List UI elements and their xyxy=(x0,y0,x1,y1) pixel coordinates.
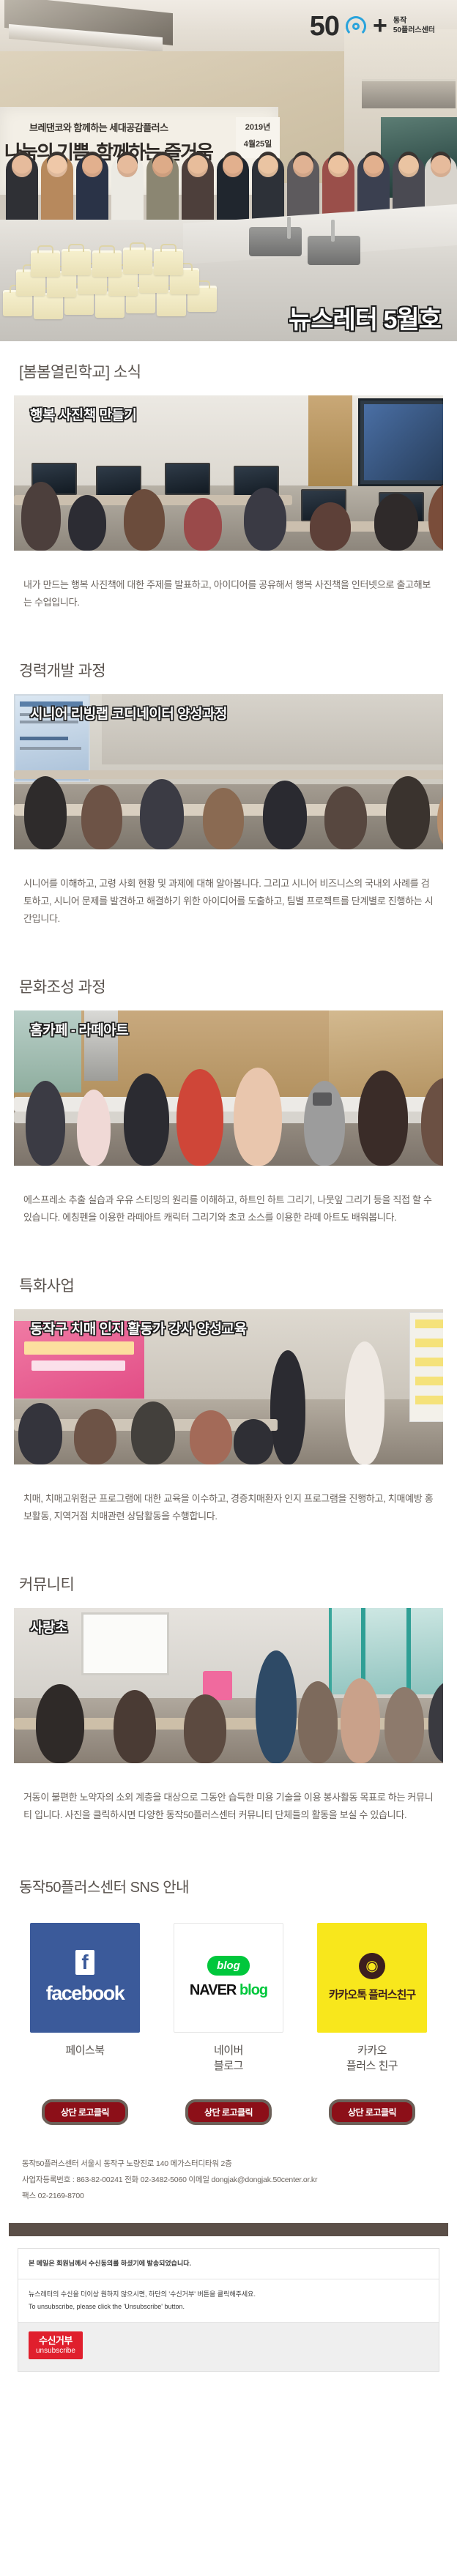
unsubscribe-button-en: unsubscribe xyxy=(36,2347,75,2356)
section-banner-label-culture: 홈카페 - 라떼아트 xyxy=(30,1019,128,1039)
sns-item-kakao[interactable]: ◉ 카카오톡 플러스친구 카카오 플러스 친구 xyxy=(311,1923,434,2075)
backdrop-subtitle: 브레댄코와 함께하는 세대공감플러스 xyxy=(29,120,168,134)
sns-caption-kakao-line1: 카카오 xyxy=(311,2043,434,2059)
section-body-bombom: 내가 만드는 행복 사진책에 대한 주제를 발표하고, 아이디어를 공유해서 행… xyxy=(0,560,457,630)
sns-tile-row: f facebook 페이스북 blog NAVER blog 네이버 블로그 … xyxy=(0,1916,457,2075)
logo-plus: + xyxy=(373,12,387,40)
section-body-career: 시니어를 이해하고, 고령 사회 현황 및 과제에 대해 알아봅니다. 그리고 … xyxy=(0,859,457,947)
logo-click-button-facebook[interactable]: 상단 로고클릭 xyxy=(42,2099,128,2125)
sns-caption-naver-line2: 블로그 xyxy=(167,2058,290,2074)
section-body-culture: 에스프레소 추출 실습과 우유 스티밍의 원리를 이해하고, 하트인 하트 그리… xyxy=(0,1175,457,1246)
naver-blog-logo-tile[interactable]: blog NAVER blog xyxy=(174,1923,283,2033)
facebook-wordmark: facebook xyxy=(46,1982,125,2005)
unsubscribe-box: 본 메일은 회원님께서 수신동의를 하셨기에 발송되었습니다. 뉴스레터의 수신… xyxy=(18,2248,439,2372)
center-logo: 50 + 동작 50플러스센터 xyxy=(310,12,435,40)
section-heading-community: 커뮤니티 xyxy=(0,1554,457,1608)
sns-caption-naver-line1: 네이버 xyxy=(167,2043,290,2059)
logo-ring-icon xyxy=(346,16,366,37)
sns-caption-kakao-line2: 플러스 친구 xyxy=(311,2058,434,2074)
section-banner-label-community: 사랑초 xyxy=(30,1617,67,1637)
logo-dot-icon xyxy=(352,23,360,30)
logo-org-line2: 50플러스센터 xyxy=(393,26,435,36)
section-body-community: 거동이 불편한 노약자의 소외 계층을 대상으로 그동안 습득한 미용 기술을 … xyxy=(0,1773,457,1843)
hairdressing-volunteer-scene xyxy=(14,1608,443,1763)
section-heading-special: 특화사업 xyxy=(0,1255,457,1309)
logo-click-button-naver-blog[interactable]: 상단 로고클릭 xyxy=(185,2099,272,2125)
logo-numeral: 50 xyxy=(310,12,339,40)
naver-blog-wordmark: NAVER blog xyxy=(190,1982,267,1999)
unsubscribe-button[interactable]: 수신거부 unsubscribe xyxy=(29,2331,83,2359)
sns-item-naver-blog[interactable]: blog NAVER blog 네이버 블로그 xyxy=(167,1923,290,2075)
unsubscribe-button-ko: 수신거부 xyxy=(36,2336,75,2347)
sns-section-heading: 동작50플러스센터 SNS 안내 xyxy=(0,1853,457,1916)
footer-address-line2: 사업자등록번호 : 863-82-00241 전화 02-3482-5060 이… xyxy=(22,2172,457,2188)
consent-notice: 본 메일은 회원님께서 수신동의를 하셨기에 발송되었습니다. xyxy=(18,2249,439,2279)
section-heading-bombom: [봄봄열린학교] 소식 xyxy=(0,341,457,395)
section-heading-culture: 문화조성 과정 xyxy=(0,956,457,1010)
footer-address-line1: 동작50플러스센터 서울시 동작구 노량진로 140 메가스터디타워 2층 xyxy=(22,2156,457,2172)
section-heading-career: 경력개발 과정 xyxy=(0,640,457,694)
section-banner-label-special: 동작구 치매 인지 활동가 강사 양성교육 xyxy=(30,1318,247,1338)
naver-wordmark-accent: blog xyxy=(239,1982,267,1998)
footer-address-block: 동작50플러스센터 서울시 동작구 노량진로 140 메가스터디타워 2층 사업… xyxy=(0,2125,457,2204)
logo-numeral-text: 50 xyxy=(310,12,339,40)
sns-caption-naver-blog: 네이버 블로그 xyxy=(167,2043,290,2075)
logo-org-name: 동작 50플러스센터 xyxy=(393,17,435,35)
section-banner-culture[interactable]: 홈카페 - 라떼아트 xyxy=(14,1010,443,1166)
gift-bags xyxy=(0,245,264,341)
facebook-f-icon: f xyxy=(75,1950,94,1975)
kakao-circle-icon: ◉ xyxy=(359,1953,385,1979)
naver-wordmark-prefix: NAVER xyxy=(190,1982,239,1998)
footer-address-line3: 팩스 02-2169-8700 xyxy=(22,2188,457,2204)
logo-org-line1: 동작 xyxy=(393,17,435,26)
facebook-logo-tile[interactable]: f facebook xyxy=(30,1923,140,2033)
section-banner-label-career: 시니어 리빙랩 코디네이터 양성과정 xyxy=(30,703,227,723)
unsubscribe-instruction-ko: 뉴스레터의 수신을 더이상 원하지 않으시면, 하단의 '수신거부' 버튼을 클… xyxy=(29,2288,428,2301)
newsletter-page: 브레댄코와 함께하는 세대공감플러스 나눔의 기쁨, 함께하는 즐거움 2019… xyxy=(0,0,457,2372)
blog-bubble-icon: blog xyxy=(207,1956,250,1976)
unsubscribe-footer: 수신거부 unsubscribe xyxy=(18,2323,439,2370)
newsletter-title: 뉴스레터 5월호 xyxy=(289,299,441,335)
section-banner-career[interactable]: 시니어 리빙랩 코디네이터 양성과정 xyxy=(14,694,443,849)
unsubscribe-instructions: 뉴스레터의 수신을 더이상 원하지 않으시면, 하단의 '수신거부' 버튼을 클… xyxy=(18,2279,439,2323)
section-banner-special[interactable]: 동작구 치매 인지 활동가 강사 양성교육 xyxy=(14,1309,443,1464)
section-banner-community[interactable]: 사랑초 xyxy=(14,1608,443,1763)
section-banner-label-bombom: 행복 사진책 만들기 xyxy=(30,404,136,424)
section-banner-bombom[interactable]: 행복 사진책 만들기 xyxy=(14,395,443,551)
logo-click-button-row: 상단 로고클릭 상단 로고클릭 상단 로고클릭 xyxy=(0,2074,457,2125)
section-body-special: 치매, 치매고위험군 프로그램에 대한 교육을 이수하고, 경증치매환자 인지 … xyxy=(0,1474,457,1544)
kakao-wordmark: 카카오톡 플러스친구 xyxy=(329,1987,415,2002)
sns-caption-kakao: 카카오 플러스 친구 xyxy=(311,2043,434,2075)
sns-caption-facebook: 페이스북 xyxy=(23,2043,146,2059)
sns-item-facebook[interactable]: f facebook 페이스북 xyxy=(23,1923,146,2059)
backdrop-date-year: 2019년 xyxy=(236,117,280,134)
unsubscribe-instruction-en: To unsubscribe, please click the 'Unsubs… xyxy=(29,2301,428,2313)
hero-photo-banner[interactable]: 브레댄코와 함께하는 세대공감플러스 나눔의 기쁨, 함께하는 즐거움 2019… xyxy=(0,0,457,341)
kakao-plus-friend-logo-tile[interactable]: ◉ 카카오톡 플러스친구 xyxy=(317,1923,427,2033)
logo-click-button-kakao[interactable]: 상단 로고클릭 xyxy=(329,2099,415,2125)
footer-divider-bar xyxy=(9,2223,448,2236)
hero-photo-scene: 브레댄코와 함께하는 세대공감플러스 나눔의 기쁨, 함께하는 즐거움 2019… xyxy=(0,0,457,341)
